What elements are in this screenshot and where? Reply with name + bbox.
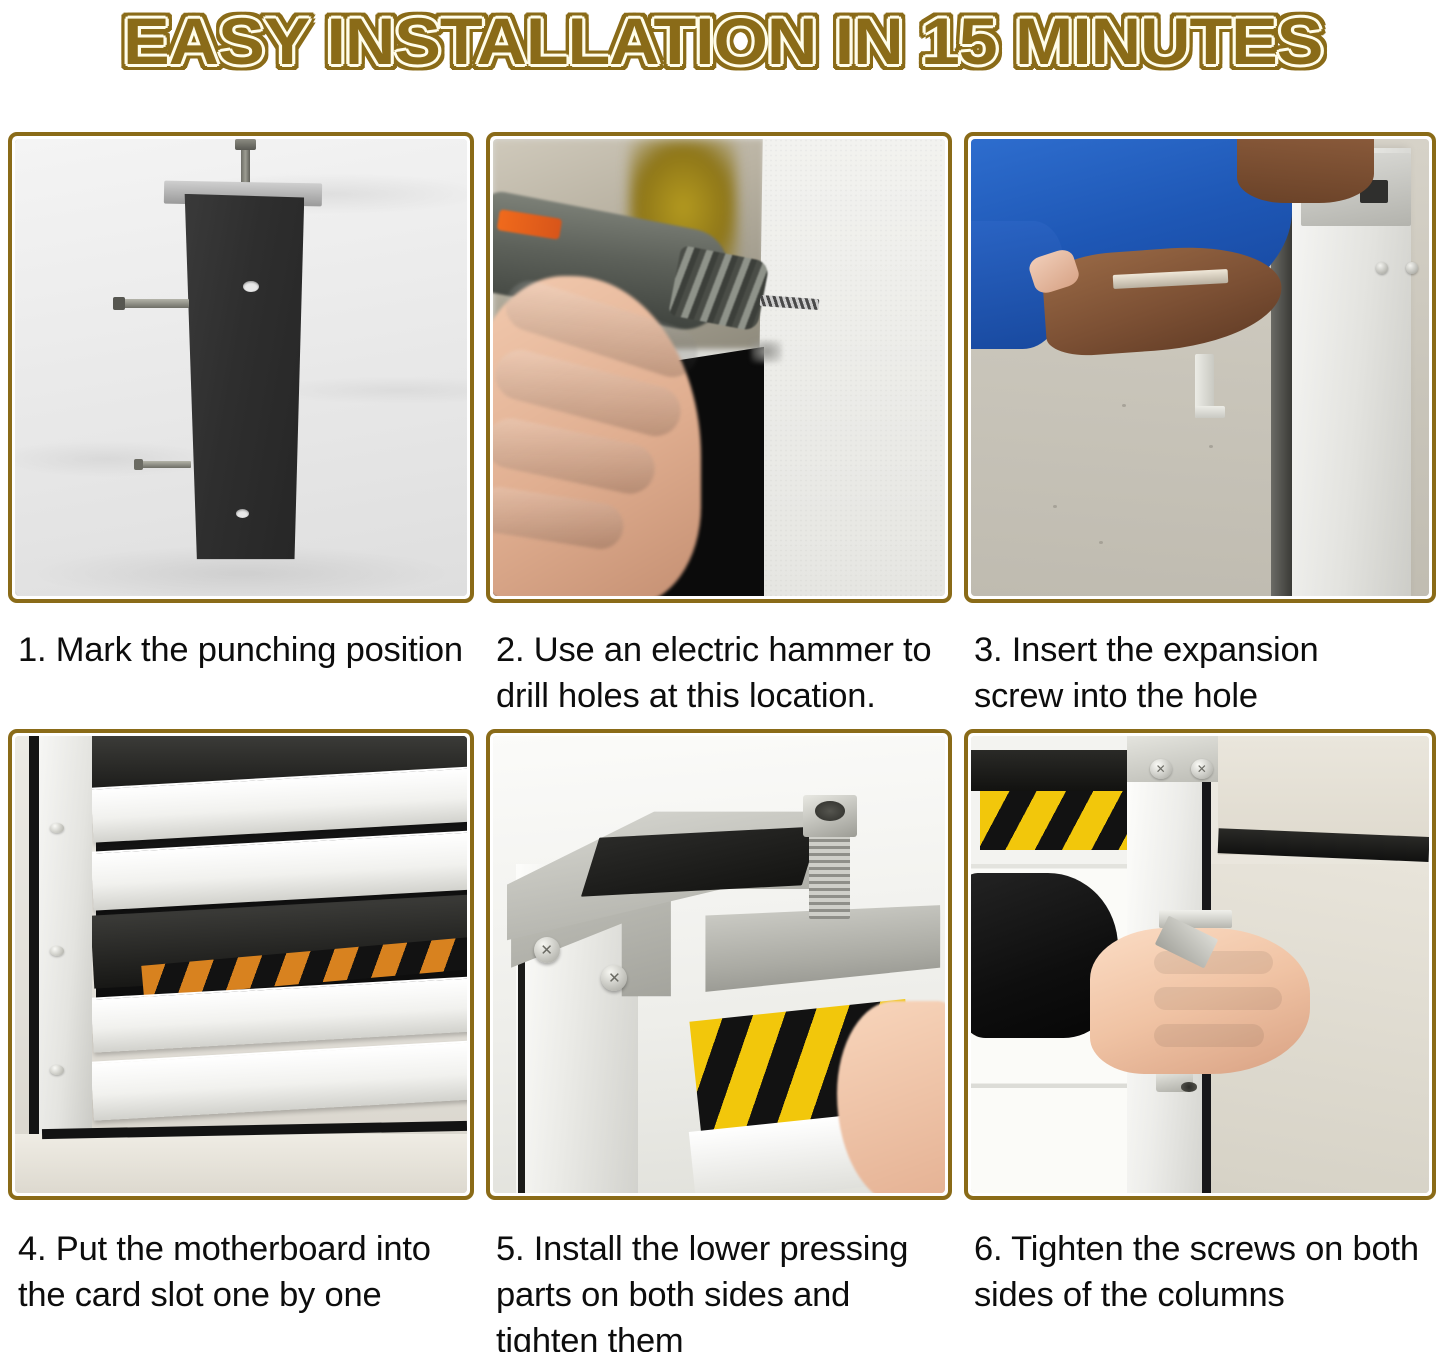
step-photo-frame-5 (486, 729, 952, 1200)
knuckle-1 (1154, 951, 1273, 974)
side-bolt-upper (117, 299, 189, 308)
column-screw-right (1191, 759, 1213, 779)
floor (15, 1134, 467, 1193)
page-title: EASY INSTALLATION IN 15 MINUTES (123, 2, 1322, 80)
step-card-2: 2. Use an electric hammer to drill holes… (486, 132, 952, 719)
step-photo-frame-6 (964, 729, 1436, 1200)
step-card-1: 1. Mark the punching position (8, 132, 474, 719)
step-caption-2: 2. Use an electric hammer to drill holes… (486, 603, 952, 719)
step-caption-1: 1. Mark the punching position (8, 603, 474, 673)
header-banner: EASY INSTALLATION IN 15 MINUTES (0, 0, 1445, 118)
step-card-4: 4. Put the motherboard into the card slo… (8, 729, 474, 1352)
mounting-hole-upper (243, 281, 259, 292)
side-bolt-lower (137, 461, 191, 468)
step-photo-frame-1 (8, 132, 474, 603)
aluminium-column (38, 736, 92, 1138)
step-caption-5: 5. Install the lower pressing parts on b… (486, 1200, 952, 1352)
white-wall (755, 139, 945, 596)
column-screw-left (1150, 759, 1172, 779)
upper-arm (1237, 139, 1374, 203)
hazard-stripe (980, 791, 1136, 850)
dark-band (971, 750, 1140, 791)
bracket-screw-2 (601, 965, 627, 991)
bracket-screw-1 (534, 937, 560, 963)
step-photo-6 (971, 736, 1429, 1193)
steps-grid: 1. Mark the punching position (8, 132, 1437, 1352)
step-photo-1 (15, 139, 467, 596)
step-caption-4: 4. Put the motherboard into the card slo… (8, 1200, 474, 1318)
step-card-6: 6. Tighten the screws on both sides of t… (964, 729, 1436, 1352)
allen-key (1195, 354, 1213, 418)
step-caption-6: 6. Tighten the screws on both sides of t… (964, 1200, 1436, 1318)
step-photo-4 (15, 736, 467, 1193)
column-screw-1 (50, 823, 64, 833)
hex-bolt-head (803, 795, 857, 836)
knuckle-3 (1154, 1024, 1264, 1047)
step-card-5: 5. Install the lower pressing parts on b… (486, 729, 952, 1352)
hand (837, 1001, 945, 1193)
step-photo-3 (971, 139, 1429, 596)
column-dark-edge (29, 736, 39, 1138)
step-card-3: 3. Insert the expansion screw into the h… (964, 132, 1436, 719)
step-photo-frame-4 (8, 729, 474, 1200)
step-caption-3: 3. Insert the expansion screw into the h… (964, 603, 1436, 719)
step-photo-frame-2 (486, 132, 952, 603)
knuckle-2 (1154, 987, 1282, 1010)
column-base-bracket (182, 194, 304, 560)
step-photo-frame-3 (964, 132, 1436, 603)
step-photo-2 (493, 139, 945, 596)
step-photo-5 (493, 736, 945, 1193)
drill-dust (751, 340, 783, 363)
column-screw-right (1406, 262, 1418, 274)
installation-guide-page: EASY INSTALLATION IN 15 MINUTES 1. Mark … (0, 0, 1445, 1352)
